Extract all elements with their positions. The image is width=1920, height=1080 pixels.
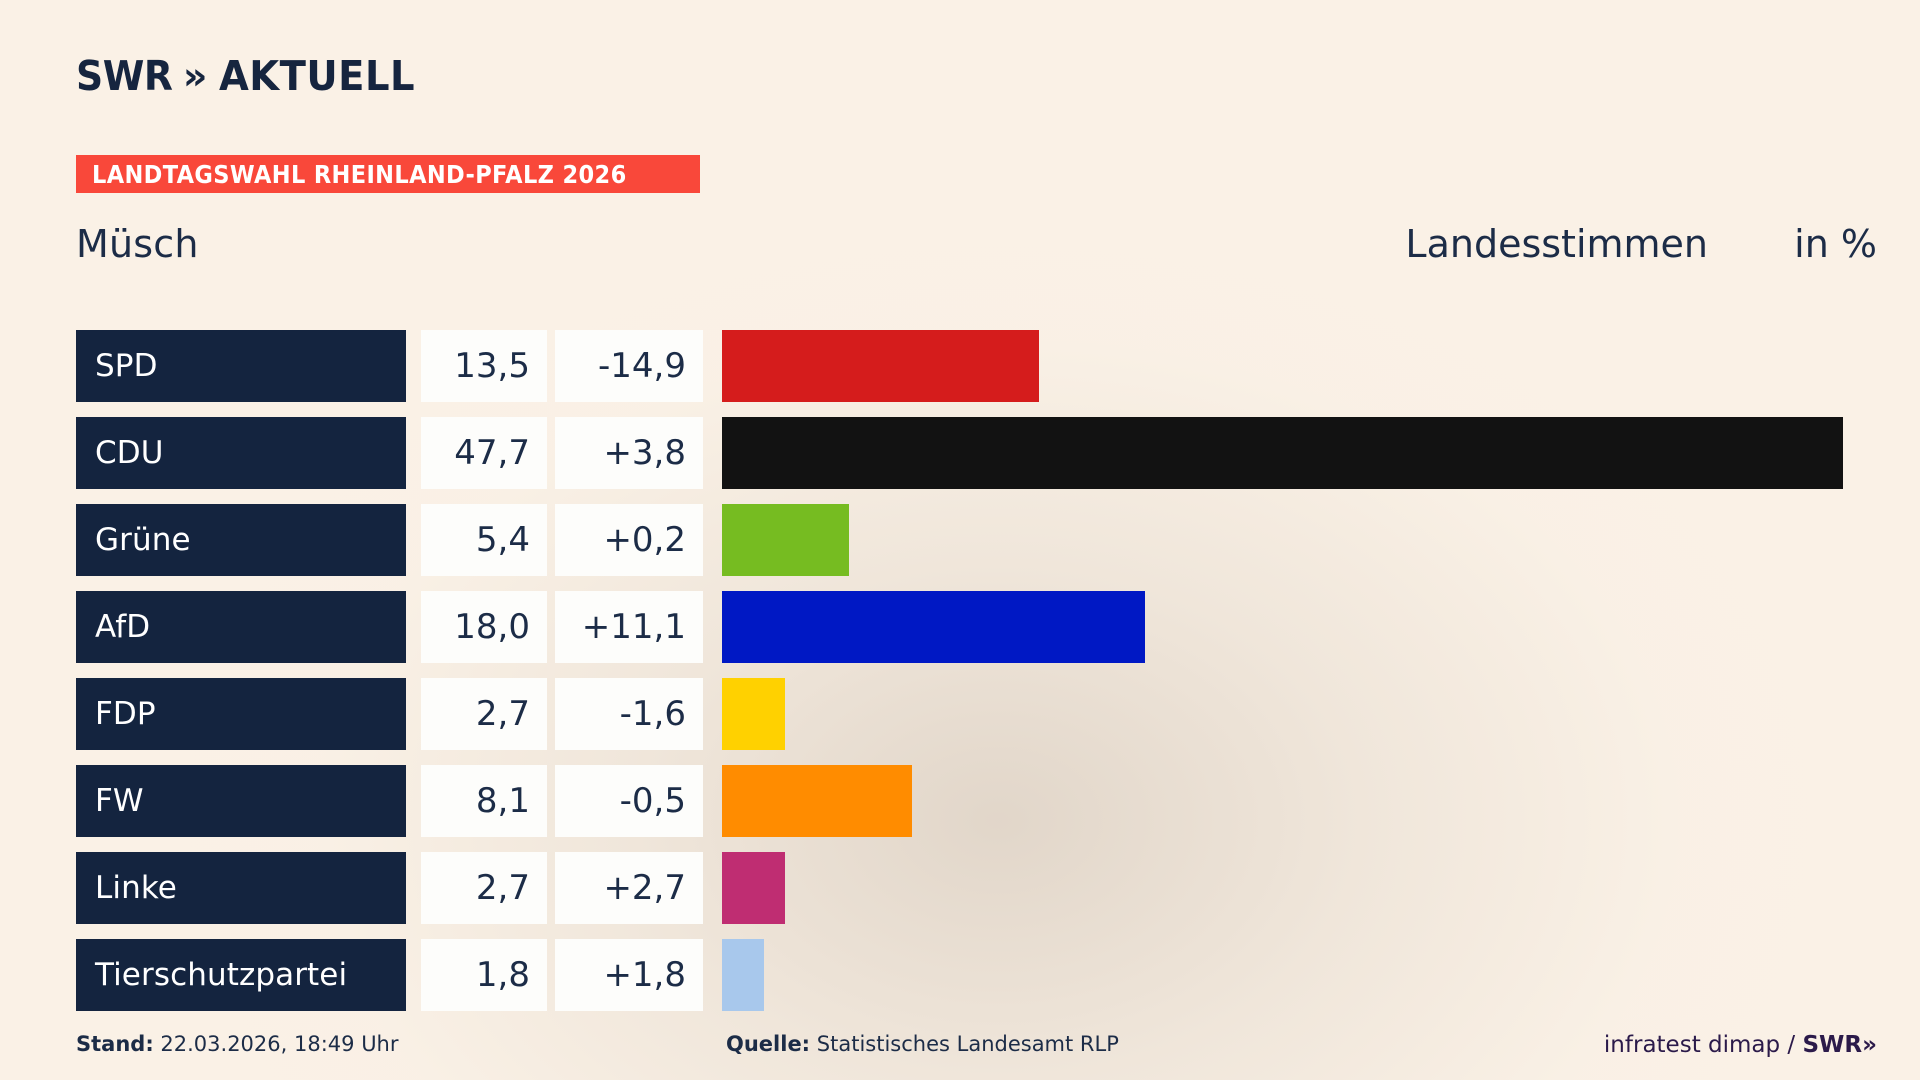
party-name: Linke <box>95 870 177 906</box>
result-value-cell: 2,7 <box>421 678 547 750</box>
result-change: -1,6 <box>620 694 686 734</box>
result-change: +2,7 <box>603 868 686 908</box>
result-value: 2,7 <box>476 694 530 734</box>
result-value-cell: 47,7 <box>421 417 547 489</box>
result-change-cell: -0,5 <box>555 765 703 837</box>
result-value-cell: 2,7 <box>421 852 547 924</box>
swr-aktuell-logo: SWR » AKTUELL <box>76 52 428 100</box>
result-value: 1,8 <box>476 955 530 995</box>
stand-info: Stand: 22.03.2026, 18:49 Uhr <box>76 1032 399 1056</box>
result-change: -0,5 <box>620 781 686 821</box>
result-bar <box>722 678 785 750</box>
party-label-cell[interactable]: CDU <box>76 417 406 489</box>
result-change-cell: -14,9 <box>555 330 703 402</box>
vote-type-label: Landesstimmen <box>1405 222 1708 266</box>
result-value-cell: 1,8 <box>421 939 547 1011</box>
party-name: FDP <box>95 696 156 732</box>
swr-wordmark: SWR <box>76 52 172 100</box>
stand-label: Stand: <box>76 1032 154 1056</box>
result-bar <box>722 939 764 1011</box>
result-value: 47,7 <box>454 433 530 473</box>
result-value: 13,5 <box>454 346 530 386</box>
party-label-cell[interactable]: FW <box>76 765 406 837</box>
result-change-cell: +3,8 <box>555 417 703 489</box>
result-value-cell: 5,4 <box>421 504 547 576</box>
double-chevron-icon: » <box>183 57 208 95</box>
party-label-cell[interactable]: Grüne <box>76 504 406 576</box>
election-results-graphic: SWR » AKTUELL LANDTAGSWAHL RHEINLAND-PFA… <box>0 0 1920 1080</box>
result-value: 5,4 <box>476 520 530 560</box>
quelle-label: Quelle: <box>726 1032 810 1056</box>
credit-line: infratest dimap / SWR» <box>1604 1032 1877 1058</box>
result-bar <box>722 852 785 924</box>
result-change-cell: +2,7 <box>555 852 703 924</box>
result-change-cell: +11,1 <box>555 591 703 663</box>
party-name: SPD <box>95 348 158 384</box>
result-change-cell: +0,2 <box>555 504 703 576</box>
footer: Stand: 22.03.2026, 18:49 Uhr Quelle: Sta… <box>0 1032 1920 1066</box>
result-change-cell: +1,8 <box>555 939 703 1011</box>
party-name: FW <box>95 783 144 819</box>
party-label-cell[interactable]: AfD <box>76 591 406 663</box>
party-label-cell[interactable]: SPD <box>76 330 406 402</box>
result-value-cell: 8,1 <box>421 765 547 837</box>
result-change: +1,8 <box>603 955 686 995</box>
credit-broadcaster: SWR» <box>1802 1032 1877 1058</box>
result-bar <box>722 417 1843 489</box>
result-value: 2,7 <box>476 868 530 908</box>
party-label-cell[interactable]: FDP <box>76 678 406 750</box>
party-name: AfD <box>95 609 150 645</box>
party-label-cell[interactable]: Linke <box>76 852 406 924</box>
result-change: -14,9 <box>598 346 686 386</box>
result-value: 18,0 <box>454 607 530 647</box>
credit-pollster: infratest dimap <box>1604 1032 1780 1058</box>
result-bar <box>722 591 1145 663</box>
party-name: Tierschutzpartei <box>95 957 347 993</box>
party-name: Grüne <box>95 522 191 558</box>
result-value-cell: 18,0 <box>421 591 547 663</box>
result-bar <box>722 765 912 837</box>
result-change: +0,2 <box>603 520 686 560</box>
party-label-cell[interactable]: Tierschutzpartei <box>76 939 406 1011</box>
result-change-cell: -1,6 <box>555 678 703 750</box>
party-name: CDU <box>95 435 164 471</box>
result-change: +11,1 <box>582 607 686 647</box>
quelle-value: Statistisches Landesamt RLP <box>817 1032 1119 1056</box>
quelle-info: Quelle: Statistisches Landesamt RLP <box>726 1032 1119 1056</box>
result-change: +3,8 <box>603 433 686 473</box>
election-banner-label: LANDTAGSWAHL RHEINLAND-PFALZ 2026 <box>92 160 627 189</box>
aktuell-wordmark: AKTUELL <box>219 52 415 100</box>
unit-label: in % <box>1794 222 1877 266</box>
result-value: 8,1 <box>476 781 530 821</box>
credit-separator: / <box>1787 1032 1795 1058</box>
page-title: Müsch <box>76 222 199 266</box>
result-bar <box>722 330 1039 402</box>
stand-value: 22.03.2026, 18:49 Uhr <box>160 1032 398 1056</box>
result-bar <box>722 504 849 576</box>
result-value-cell: 13,5 <box>421 330 547 402</box>
election-banner: LANDTAGSWAHL RHEINLAND-PFALZ 2026 <box>76 155 700 193</box>
